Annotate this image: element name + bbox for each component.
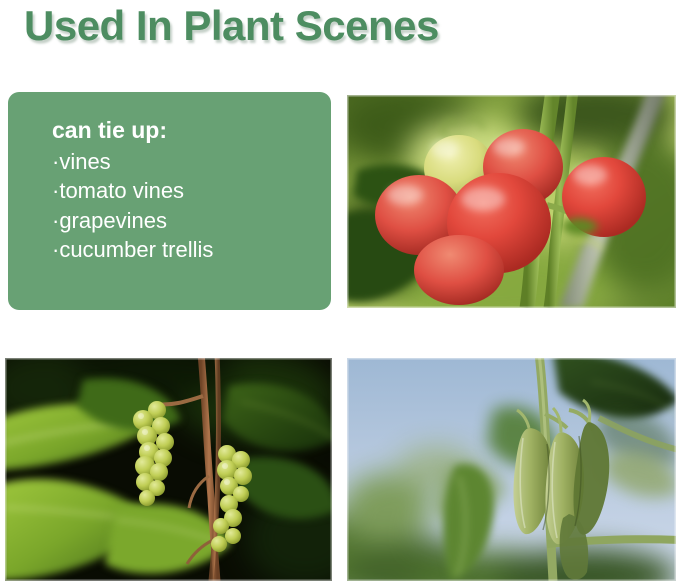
list-item: ·vines xyxy=(52,147,331,176)
photo-soybean-pods xyxy=(347,358,676,581)
list-item: ·grapevines xyxy=(52,206,331,235)
berry-vine-scene-illustration xyxy=(5,358,332,581)
list-item: ·tomato vines xyxy=(52,176,331,205)
tie-up-list: ·vines ·tomato vines ·grapevines ·cucumb… xyxy=(52,147,331,264)
scene-grid: can tie up: ·vines ·tomato vines ·grapev… xyxy=(0,88,679,581)
photo-tomatoes-on-vine xyxy=(347,95,676,308)
page-title: Used In Plant Scenes xyxy=(24,2,439,50)
photo-green-berry-vine xyxy=(5,358,332,581)
tomato-scene-illustration xyxy=(347,95,676,308)
tomato-red-bottom xyxy=(414,235,504,305)
info-card-content: can tie up: ·vines ·tomato vines ·grapev… xyxy=(8,92,331,264)
info-card: can tie up: ·vines ·tomato vines ·grapev… xyxy=(8,92,331,310)
info-card-heading: can tie up: xyxy=(52,118,331,142)
soybean-scene-illustration xyxy=(347,358,676,581)
list-item: ·cucumber trellis xyxy=(52,235,331,264)
